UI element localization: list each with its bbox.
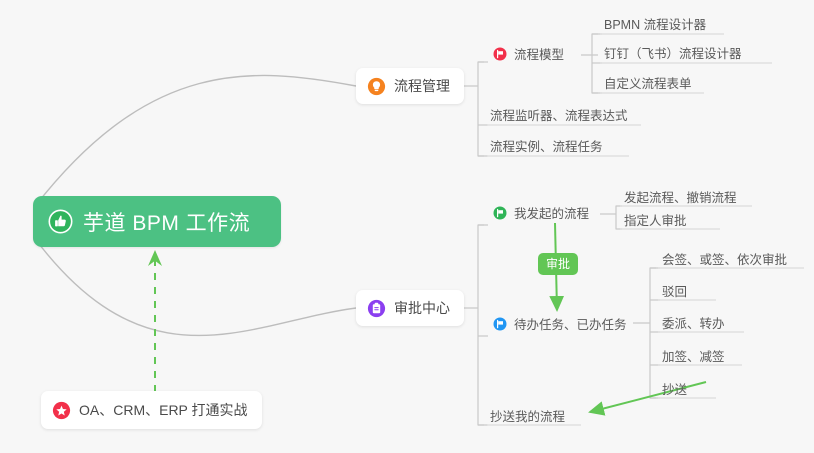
sub-label-todo-done-tasks: 待办任务、已办任务	[514, 314, 627, 333]
sub-label-my-initiated: 我发起的流程	[514, 203, 589, 222]
leaf-node-add-remove-sign[interactable]: 加签、减签	[662, 346, 725, 370]
leaf-node-delegate-transfer[interactable]: 委派、转办	[662, 313, 725, 337]
edge-init-spine	[616, 206, 622, 229]
leaf-node-countersign[interactable]: 会签、或签、依次审批	[662, 249, 787, 273]
edge-model-spine	[592, 34, 598, 93]
flag-icon	[493, 47, 507, 61]
footer-node-oa-crm-erp[interactable]: OA、CRM、ERP 打通实战	[41, 391, 262, 429]
leaf-node-start-cancel-process[interactable]: 发起流程、撤销流程	[624, 187, 737, 211]
branch-node-process-management[interactable]: 流程管理	[356, 68, 464, 104]
branch-node-approval-center[interactable]: 审批中心	[356, 290, 464, 326]
leaf-node-bpmn-designer[interactable]: BPMN 流程设计器	[604, 14, 706, 38]
leaf-node-assigned-approver[interactable]: 指定人审批	[624, 210, 687, 234]
branch-label-approval-center: 审批中心	[394, 298, 450, 318]
leaf-node-process-instance[interactable]: 流程实例、流程任务	[490, 136, 603, 160]
root-node[interactable]: 芋道 BPM 工作流	[33, 196, 281, 247]
root-label: 芋道 BPM 工作流	[83, 207, 250, 237]
sub-node-process-model[interactable]: 流程模型	[493, 44, 564, 63]
sub-node-my-initiated[interactable]: 我发起的流程	[493, 203, 589, 222]
sub-label-process-model: 流程模型	[514, 44, 564, 63]
flag-icon	[493, 317, 507, 331]
edge-root-to-process-management	[36, 75, 356, 205]
leaf-node-cc[interactable]: 抄送	[662, 379, 687, 403]
edge-root-to-approval-center	[36, 240, 356, 336]
mindmap-canvas: 芋道 BPM 工作流 流程管理 流程模型 BPMN 流程设计器 钉钉（飞书）流程…	[0, 0, 814, 453]
edge-todo-spine	[650, 268, 656, 398]
leaf-node-reject[interactable]: 驳回	[662, 281, 687, 305]
arrow-cc-link	[590, 382, 706, 412]
sub-node-todo-done-tasks[interactable]: 待办任务、已办任务	[493, 314, 627, 333]
leaf-node-cc-to-me[interactable]: 抄送我的流程	[490, 406, 565, 430]
footer-node-label: OA、CRM、ERP 打通实战	[79, 400, 248, 420]
leaf-node-process-listener[interactable]: 流程监听器、流程表达式	[490, 105, 628, 129]
leaf-node-dingtalk-designer[interactable]: 钉钉（飞书）流程设计器	[604, 43, 742, 67]
flag-icon	[493, 206, 507, 220]
lightbulb-icon	[367, 77, 386, 96]
edge-ac-spine	[478, 225, 484, 425]
star-icon	[52, 401, 71, 420]
branch-label-process-management: 流程管理	[394, 76, 450, 96]
thumbs-up-icon	[48, 209, 73, 234]
edge-pm-spine	[478, 62, 484, 156]
leaf-node-custom-form[interactable]: 自定义流程表单	[604, 73, 692, 97]
clipboard-icon	[367, 299, 386, 318]
annotation-approval-label: 审批	[538, 253, 578, 275]
